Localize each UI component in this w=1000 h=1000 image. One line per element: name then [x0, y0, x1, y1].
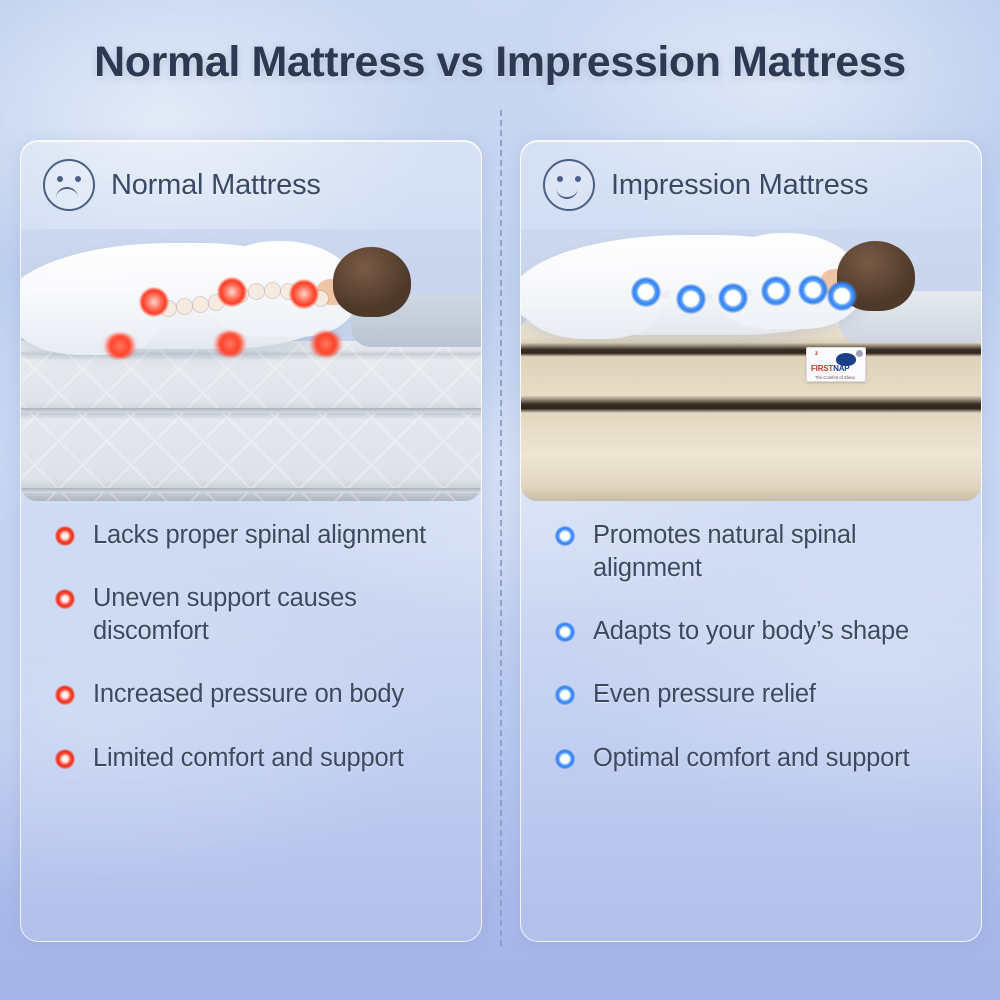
- spine-hotspot: [139, 287, 169, 317]
- spine-bead: [265, 283, 280, 298]
- positive-bullet-icon: [555, 685, 575, 705]
- list-item-label: Lacks proper spinal alignment: [93, 519, 426, 552]
- spine-hotspot: [217, 277, 247, 307]
- spine-alignment-ring: [631, 277, 661, 307]
- list-item: Limited comfort and support: [55, 742, 455, 775]
- pressure-point: [309, 331, 343, 357]
- normal-mattress-bullet-list: Lacks proper spinal alignment Uneven sup…: [21, 519, 481, 805]
- list-item: Lacks proper spinal alignment: [55, 519, 455, 552]
- sad-face-mouth: [56, 187, 78, 200]
- list-item-label: Adapts to your body’s shape: [593, 615, 909, 648]
- list-item: Optimal comfort and support: [555, 742, 955, 775]
- list-item-label: Optimal comfort and support: [593, 742, 909, 775]
- spine-bead: [193, 297, 208, 312]
- left-panel-heading: Normal Mattress: [111, 169, 321, 202]
- positive-bullet-icon: [555, 749, 575, 769]
- impression-mattress-bullet-list: Promotes natural spinal alignment Adapts…: [521, 519, 981, 805]
- list-item: Uneven support causes discomfort: [55, 582, 455, 648]
- happy-face-eye-left: [557, 176, 563, 182]
- mattress-seam-upper: [21, 408, 481, 413]
- happy-face-eye-right: [575, 176, 581, 182]
- spine-alignment-ring: [676, 284, 706, 314]
- panel-normal-mattress: Normal Mattress: [20, 140, 482, 942]
- list-item-label: Even pressure relief: [593, 678, 816, 711]
- brand-tagline: The Comfort of Sleep: [815, 375, 855, 380]
- happy-face-mouth: [556, 186, 578, 199]
- list-item: Increased pressure on body: [55, 678, 455, 711]
- registered-mark-icon: [856, 350, 863, 357]
- sad-face-icon: [43, 159, 95, 211]
- negative-bullet-icon: [55, 685, 75, 705]
- brand-label: z FIRSTNAP The Comfort of Sleep: [806, 347, 866, 382]
- spine-link: [661, 291, 670, 298]
- right-panel-heading: Impression Mattress: [611, 169, 868, 202]
- center-divider: [500, 110, 502, 946]
- spine-alignment-ring: [718, 283, 748, 313]
- impression-mattress-photo: z FIRSTNAP The Comfort of Sleep: [521, 229, 981, 501]
- brand-name: FIRSTNAP: [811, 364, 849, 373]
- sleeper-hip: [21, 273, 161, 355]
- negative-bullet-icon: [55, 526, 75, 546]
- normal-mattress-photo: [21, 229, 481, 501]
- list-item-label: Uneven support causes discomfort: [93, 582, 455, 648]
- spine-bead: [177, 299, 192, 314]
- list-item-label: Increased pressure on body: [93, 678, 404, 711]
- pressure-point: [213, 331, 247, 357]
- brand-name-second: NAP: [833, 364, 849, 373]
- list-item-label: Promotes natural spinal alignment: [593, 519, 955, 585]
- zzz-icon: z: [815, 351, 818, 357]
- right-panel-header: Impression Mattress: [521, 141, 981, 207]
- happy-face-icon: [543, 159, 595, 211]
- list-item: Promotes natural spinal alignment: [555, 519, 955, 585]
- sad-face-eye-left: [57, 176, 63, 182]
- list-item: Even pressure relief: [555, 678, 955, 711]
- positive-bullet-icon: [555, 622, 575, 642]
- page-title: Normal Mattress vs Impression Mattress: [0, 38, 1000, 87]
- sad-face-eye-right: [75, 176, 81, 182]
- spine-alignment-ring: [798, 275, 828, 305]
- sleeper-head: [333, 247, 411, 317]
- mattress-seam-lower: [21, 488, 481, 493]
- brand-name-first: FIRST: [811, 364, 833, 373]
- grey-mattress-body: [21, 341, 481, 501]
- positive-bullet-icon: [555, 526, 575, 546]
- spine-alignment-ring: [827, 281, 857, 311]
- beige-mattress-body: [521, 325, 981, 501]
- infographic-canvas: Normal Mattress vs Impression Mattress N…: [0, 0, 1000, 1000]
- negative-bullet-icon: [55, 749, 75, 769]
- left-panel-header: Normal Mattress: [21, 141, 481, 207]
- fiber-texture: [521, 325, 981, 501]
- spine-bead: [249, 284, 264, 299]
- negative-bullet-icon: [55, 589, 75, 609]
- spine-hotspot: [289, 279, 319, 309]
- list-item-label: Limited comfort and support: [93, 742, 404, 775]
- spine-alignment-ring: [761, 276, 791, 306]
- pressure-point: [103, 333, 137, 359]
- panel-impression-mattress: Impression Mattress: [520, 140, 982, 942]
- quilt-pattern: [21, 341, 481, 501]
- list-item: Adapts to your body’s shape: [555, 615, 955, 648]
